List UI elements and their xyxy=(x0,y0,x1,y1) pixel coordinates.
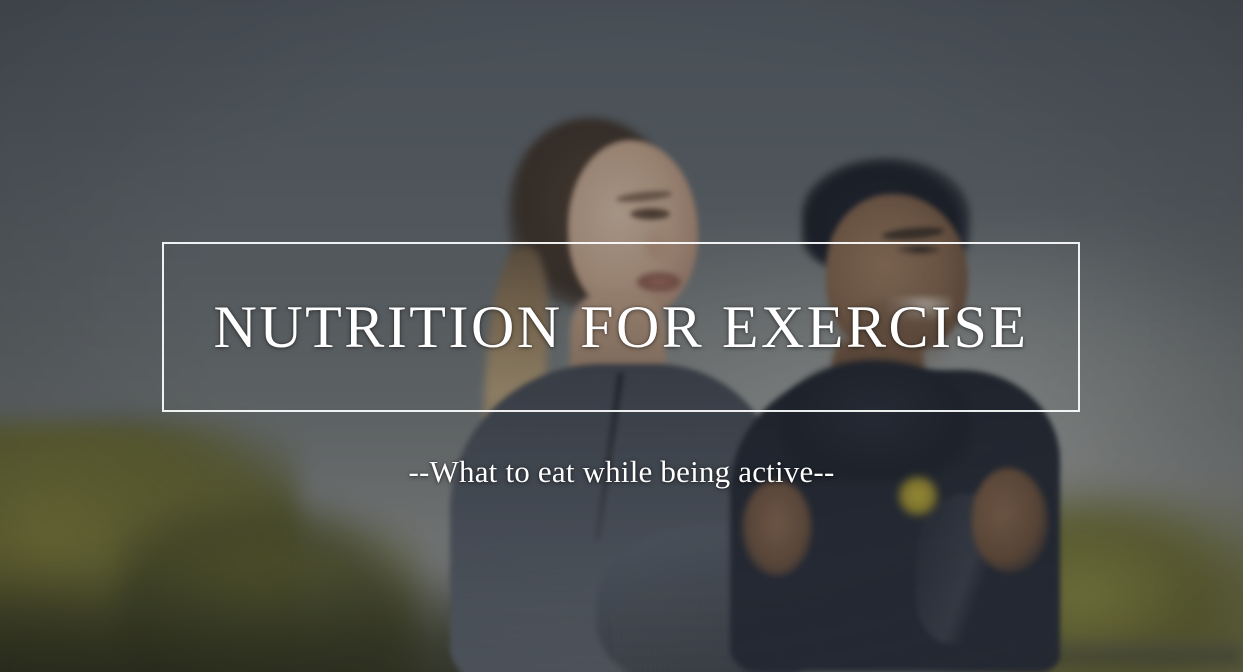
title-slide: NUTRITION FOR EXERCISE --What to eat whi… xyxy=(0,0,1243,672)
slide-title: NUTRITION FOR EXERCISE xyxy=(214,297,1029,357)
slide-content: NUTRITION FOR EXERCISE --What to eat whi… xyxy=(0,0,1243,672)
title-frame: NUTRITION FOR EXERCISE xyxy=(162,242,1080,412)
slide-subtitle: --What to eat while being active-- xyxy=(0,455,1243,489)
